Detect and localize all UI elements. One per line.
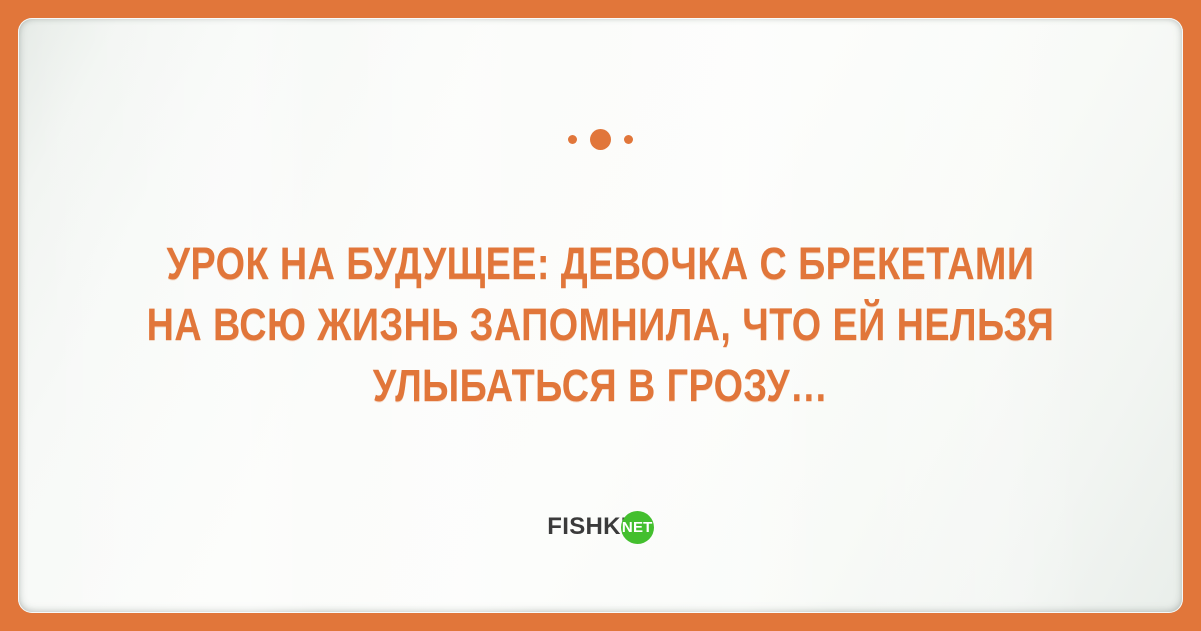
dot-right-icon xyxy=(624,135,633,144)
dot-left-icon xyxy=(568,135,577,144)
quote-card-content: УРОК НА БУДУЩЕЕ: ДЕВОЧКА С БРЕКЕТАМИ НА … xyxy=(18,18,1183,613)
quote-text: УРОК НА БУДУЩЕЕ: ДЕВОЧКА С БРЕКЕТАМИ НА … xyxy=(18,233,1183,416)
quote-card: УРОК НА БУДУЩЕЕ: ДЕВОЧКА С БРЕКЕТАМИ НА … xyxy=(18,18,1183,613)
quote-line-2: НА ВСЮ ЖИЗНЬ ЗАПОМНИЛА, ЧТО ЕЙ НЕЛЬЗЯ xyxy=(111,294,1090,355)
logo-net-badge-label: NET xyxy=(622,520,653,535)
screenshot-stage: УРОК НА БУДУЩЕЕ: ДЕВОЧКА С БРЕКЕТАМИ НА … xyxy=(0,0,1201,631)
quote-line-3: УЛЫБАТЬСЯ В ГРОЗУ… xyxy=(111,355,1090,416)
quote-line-1: УРОК НА БУДУЩЕЕ: ДЕВОЧКА С БРЕКЕТАМИ xyxy=(111,233,1090,294)
fishki-net-logo[interactable]: FISHKI NET xyxy=(18,510,1183,544)
three-dots-ornament xyxy=(18,124,1183,154)
logo-net-badge-icon: NET xyxy=(621,511,654,544)
logo-wordmark: FISHKI xyxy=(547,515,627,539)
dot-center-icon xyxy=(590,129,611,150)
